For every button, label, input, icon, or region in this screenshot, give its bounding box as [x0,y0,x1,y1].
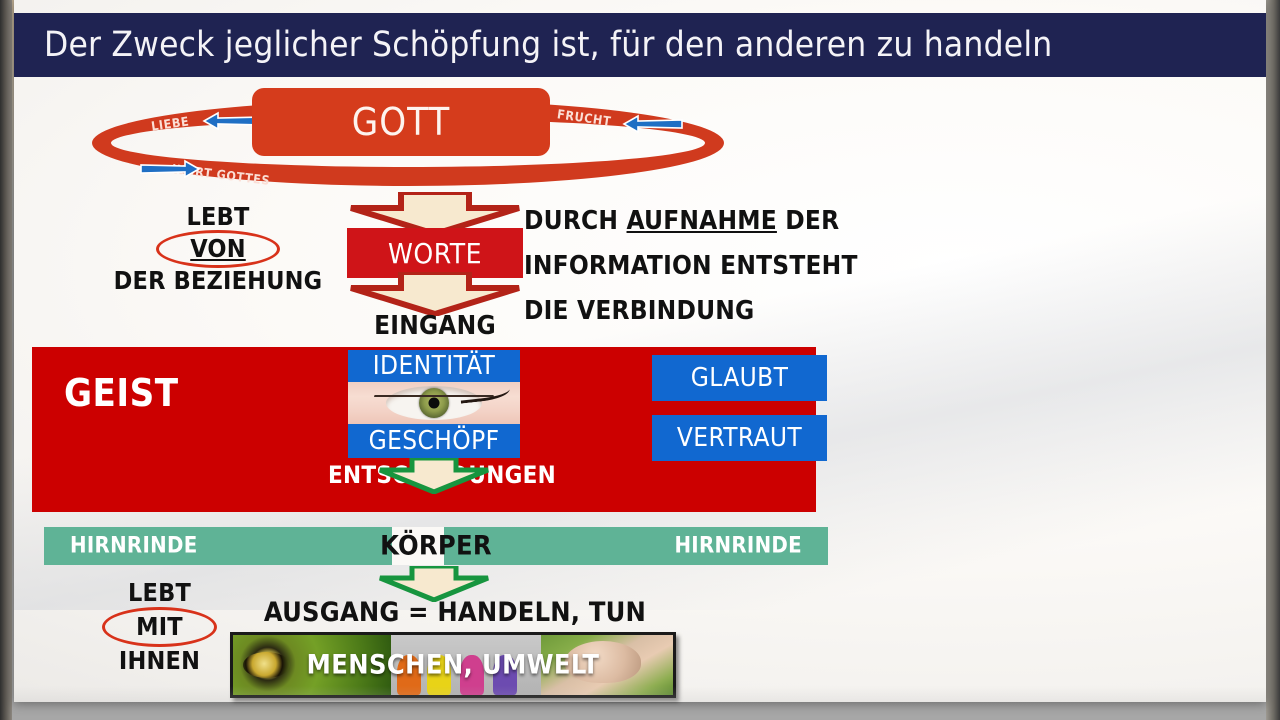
slide-stage: Der Zweck jeglicher Schöpfung ist, für d… [0,0,1280,720]
hirnrinde-right-label: HIRNRINDE [674,534,802,559]
title-bar: Der Zweck jeglicher Schöpfung ist, für d… [14,13,1266,77]
durch-aufnahme-line: DURCH AUFNAHME DER [524,199,944,244]
glaubt-box: GLAUBT [652,355,827,401]
lebt-bottom-label: LEBT [62,577,257,609]
page-title: Der Zweck jeglicher Schöpfung ist, für d… [44,25,1052,65]
von-circled: VON [156,232,280,266]
information-entsteht-label: INFORMATION ENTSTEHT [524,244,944,289]
ausgang-block: AUSGANG = HANDELN, TUN [230,598,680,628]
ihnen-label: IHNEN [62,645,257,677]
arrow-left-icon-frucht [620,113,684,135]
arrow-down-icon-to-eingang [347,272,523,316]
geschoepf-box: GESCHÖPF [348,424,520,458]
ausgang-label: AUSGANG = HANDELN, TUN [230,598,680,628]
ellipse-highlight-icon [156,230,280,268]
ellipse-highlight-icon-bottom [102,607,217,647]
koerper-band: HIRNRINDE KÖRPER HIRNRINDE [44,527,828,565]
hirnrinde-left-label: HIRNRINDE [70,534,198,559]
left-top-text-block: LEBT VON DER BEZIEHUNG [68,202,368,296]
durch-label: DURCH [524,206,627,236]
eingang-label: EINGANG [332,311,538,341]
arrow-right-icon-wort-gottes [139,158,203,180]
left-bottom-text-block: LEBT MIT IHNEN [62,577,257,677]
vertraut-box: VERTRAUT [652,415,827,461]
aufnahme-label: AUFNAHME [627,206,777,236]
slide-canvas: Der Zweck jeglicher Schöpfung ist, für d… [14,0,1266,702]
identity-stack: IDENTITÄT GESCHÖPF [348,350,520,458]
der-beziehung-label: DER BEZIEHUNG [68,266,368,296]
koerper-label: KÖRPER [380,531,492,562]
arrow-down-icon-to-entscheidungen [376,458,492,494]
right-top-text-block: DURCH AUFNAHME DER INFORMATION ENTSTEHT … [524,199,944,334]
eye-image [348,382,520,424]
gott-label: GOTT [352,100,450,144]
eye-pupil [429,398,440,409]
identitaet-box: IDENTITÄT [348,350,520,382]
lebt-label: LEBT [68,202,368,232]
frame-left-edge [0,0,12,720]
photo-strip: MENSCHEN, UMWELT [230,632,676,698]
worte-box: WORTE [347,228,523,278]
der-label: DER [777,206,839,236]
gott-box: GOTT [252,88,550,156]
mit-circled: MIT [102,609,217,645]
frame-right-edge [1266,0,1280,720]
eingang-block: EINGANG [332,311,538,341]
menschen-umwelt-label: MENSCHEN, UMWELT [233,650,673,681]
worte-label: WORTE [388,237,482,270]
die-verbindung-label: DIE VERBINDUNG [524,289,944,334]
geist-label: GEIST [64,371,179,415]
